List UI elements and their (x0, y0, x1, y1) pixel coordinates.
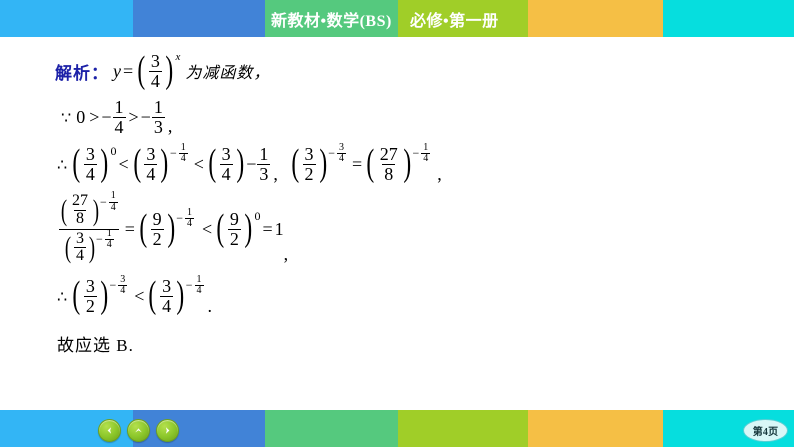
exponent: − 1 4 (412, 143, 431, 165)
numerator: 1 (152, 98, 165, 117)
header-block-cyan (663, 0, 794, 37)
numerator: 1 (179, 143, 188, 153)
next-slide-button[interactable] (156, 419, 179, 442)
left-paren: ( (291, 150, 299, 177)
exponent-fraction: 3 4 (337, 143, 346, 165)
denominator: 4 (160, 296, 173, 316)
right-paren: ) (236, 150, 244, 177)
therefore-symbol: ∴ (57, 155, 70, 174)
answer-text: 故应选 B. (57, 331, 134, 356)
numerator: 3 (160, 277, 173, 296)
fraction: 3 2 (303, 145, 316, 183)
exponent-fraction: 1 4 (105, 229, 114, 251)
complex-fraction: ( 27 8 ) − 1 4 (55, 193, 123, 265)
fraction: 3 4 (84, 145, 97, 183)
right-paren: ) (165, 57, 173, 84)
right-paren: ) (319, 150, 327, 177)
therefore-symbol: ∴ (57, 287, 70, 306)
greater-than-1: > (87, 107, 101, 128)
value-zero: 0 (74, 107, 87, 128)
term-3-2-pow-neg-3-4: ( 3 2 ) − 3 4 (289, 145, 347, 183)
denominator: 4 (84, 164, 97, 184)
numerator: 3 (303, 145, 316, 164)
denominator: 2 (84, 296, 97, 316)
header-block-lime: 必修•第一册 (398, 0, 528, 37)
minus-sign-2: − (141, 107, 151, 128)
exponent: − 1 4 (186, 275, 205, 297)
fraction-3-4: 3 4 (149, 52, 162, 90)
exponent-fraction: 1 4 (421, 143, 430, 165)
term-27-8-pow-neg-1-4: ( 27 8 ) − 1 4 (364, 145, 431, 183)
exponent-fraction: 1 4 (109, 191, 118, 213)
denominator: 4 (74, 247, 86, 265)
exponent: − 1 4 (96, 229, 115, 251)
exponent-fraction: 1 4 (185, 208, 194, 230)
exponent-sign: − (100, 195, 108, 210)
term-9-2-pow-0: ( 9 2 ) 0 (214, 210, 260, 248)
right-paren: ) (176, 282, 184, 309)
numerator: 1 (185, 208, 194, 218)
fraction: 3 4 (144, 145, 157, 183)
exponent-fraction: 1 4 (195, 275, 204, 297)
left-paren: ( (367, 150, 375, 177)
equals-sign-2: = (261, 219, 275, 240)
term-3-4-pow-neg-1-4: ( 3 4 ) − 1 4 (131, 145, 189, 183)
exponent: − 1 4 (100, 191, 119, 213)
exponent: − 1 4 (176, 208, 195, 230)
complex-numerator: ( 27 8 ) − 1 4 (55, 193, 123, 228)
header-block-green: 新教材•数学(BS) (265, 0, 398, 37)
right-paren: ) (89, 237, 95, 259)
denominator: 4 (118, 285, 127, 296)
right-paren: ) (167, 215, 175, 242)
left-paren: ( (149, 282, 157, 309)
comma-1: , (271, 164, 280, 185)
exponent-sign: − (110, 278, 118, 293)
exponent-sign: − (176, 211, 184, 226)
term-3-4-pow-0: ( 3 4 ) 0 (70, 145, 116, 183)
footer-block-orange (528, 410, 663, 447)
term-3-4-pow-neg-1-4: ( 3 4 ) − 1 4 (146, 277, 204, 315)
solution-line-5: ∴ ( 3 2 ) − 3 4 < ( (57, 275, 755, 317)
exponent-fraction: 3 4 (118, 275, 127, 297)
denominator: 4 (220, 164, 233, 184)
fraction: 27 8 (70, 193, 90, 227)
denominator: 4 (179, 153, 188, 164)
numerator: 3 (74, 231, 86, 248)
left-paren: ( (217, 215, 225, 242)
less-than-1: < (117, 154, 131, 175)
numerator: 9 (151, 210, 164, 229)
footer-block-lime (398, 410, 528, 447)
greater-than-2: > (127, 107, 141, 128)
denominator: 3 (257, 164, 270, 184)
right-paren: ) (161, 150, 169, 177)
chevron-right-icon (163, 426, 172, 435)
term-9-2-pow-neg-1-4: ( 9 2 ) − 1 4 (137, 210, 195, 248)
fraction-1-4: 1 4 (113, 98, 126, 136)
numerator: 3 (220, 145, 233, 164)
term-3-4-pow-neg-1-4: ( 3 4 ) − 1 4 (63, 231, 115, 265)
numerator: 3 (84, 277, 97, 296)
exponent-sign: − (186, 278, 194, 293)
numerator: 9 (228, 210, 241, 229)
solution-line-6: 故应选 B. (57, 329, 755, 357)
home-slide-button[interactable] (127, 419, 150, 442)
equals-sign: = (121, 61, 135, 82)
numerator: 3 (118, 275, 127, 285)
denominator: 4 (185, 218, 194, 229)
fraction-1-3: 1 3 (152, 98, 165, 136)
numerator: 1 (195, 275, 204, 285)
because-symbol: ∵ (61, 108, 74, 127)
denominator: 2 (151, 229, 164, 249)
fraction: 27 8 (378, 145, 400, 183)
term-27-8-pow-neg-1-4: ( 27 8 ) − 1 4 (59, 193, 119, 227)
denominator: 8 (74, 210, 86, 228)
denominator: 2 (228, 229, 241, 249)
numerator: 1 (109, 191, 118, 201)
term-3-4-pow-neg-1-3: ( 3 4 ) − 1 3 (206, 145, 271, 183)
exponent-sign: − (412, 146, 420, 161)
exponent: − 3 4 (328, 143, 347, 165)
denominator: 4 (421, 153, 430, 164)
numerator: 27 (378, 145, 400, 164)
denominator: 4 (105, 239, 114, 250)
denominator: 2 (303, 164, 316, 184)
header-block-orange (528, 0, 663, 37)
left-paren: ( (73, 282, 81, 309)
power-base-3-over-4: ( 3 4 ) x (135, 52, 180, 90)
right-paren: ) (403, 150, 411, 177)
exponent-sign: − (328, 146, 336, 161)
fraction: 9 2 (228, 210, 241, 248)
exponent: − 1 4 (170, 143, 189, 165)
less-than: < (132, 286, 146, 307)
numerator: 1 (113, 98, 126, 117)
right-paren: ) (93, 200, 99, 222)
exponent-fraction: 1 4 (179, 143, 188, 165)
complex-denominator: ( 3 4 ) − 1 4 (59, 229, 119, 265)
denominator: 4 (109, 202, 118, 213)
header-block-lightblue (0, 0, 133, 37)
comma: , (284, 244, 289, 265)
fraction: 3 2 (84, 277, 97, 315)
period: . (205, 296, 213, 317)
slide-navigation (98, 419, 179, 442)
chevron-up-icon (134, 426, 143, 435)
value-one: 1 (275, 219, 284, 240)
right-paren: ) (100, 150, 108, 177)
less-than-2: < (192, 154, 206, 175)
solution-line-1: 解析： y = ( 3 4 ) x 为减函数， (55, 51, 755, 91)
exponent: − 3 4 (110, 275, 129, 297)
numerator: 3 (144, 145, 157, 164)
page-number-badge: 第4页 (743, 419, 788, 442)
exponent-sign: − (96, 232, 104, 247)
solution-line-2: ∵ 0 > − 1 4 > − 1 3 , (61, 97, 755, 137)
exponent-sign: − (246, 154, 256, 175)
fraction: 3 4 (74, 231, 86, 265)
numerator: 1 (257, 145, 270, 164)
minus-sign-1: − (101, 107, 111, 128)
left-paren: ( (138, 57, 146, 84)
left-paren: ( (73, 150, 81, 177)
denominator: 8 (382, 164, 395, 184)
equals-sign: = (350, 154, 364, 175)
numerator: 3 (84, 145, 97, 164)
analysis-label: 解析： (55, 59, 109, 84)
numerator: 3 (337, 143, 346, 153)
numerator: 1 (105, 229, 114, 239)
chevron-left-icon (105, 426, 114, 435)
decreasing-function-text: 为减函数， (185, 59, 270, 83)
left-paren: ( (133, 150, 141, 177)
exponent-x: x (175, 51, 180, 63)
variable-y: y (113, 61, 121, 82)
equals-sign-1: = (123, 219, 137, 240)
denominator: 4 (149, 71, 162, 91)
left-paren: ( (65, 237, 71, 259)
right-paren: ) (100, 282, 108, 309)
left-paren: ( (61, 200, 67, 222)
exponent-fraction: 1 3 (257, 145, 270, 183)
book-title: 必修•第一册 (410, 7, 499, 31)
comma-2: , (435, 164, 444, 185)
right-paren: ) (244, 215, 252, 242)
exponent-sign: − (170, 146, 178, 161)
denominator: 4 (195, 285, 204, 296)
fraction: 9 2 (151, 210, 164, 248)
prev-slide-button[interactable] (98, 419, 121, 442)
solution-line-3: ∴ ( 3 4 ) 0 < ( 3 4 ) − (57, 143, 755, 185)
term-3-2-pow-neg-3-4: ( 3 2 ) − 3 4 (70, 277, 128, 315)
numerator: 27 (70, 193, 90, 210)
comma: , (166, 116, 175, 137)
solution-content: 解析： y = ( 3 4 ) x 为减函数， ∵ 0 > − 1 4 (55, 47, 755, 357)
numerator: 3 (149, 52, 162, 71)
page-number-label: 第4页 (753, 423, 779, 438)
denominator: 3 (152, 117, 165, 137)
denominator: 4 (113, 117, 126, 137)
slide-body: 解析： y = ( 3 4 ) x 为减函数， ∵ 0 > − 1 4 (0, 37, 794, 410)
numerator: 1 (421, 143, 430, 153)
fraction: 3 4 (220, 145, 233, 183)
denominator: 4 (337, 153, 346, 164)
subject-title: 新教材•数学(BS) (271, 7, 392, 31)
left-paren: ( (208, 150, 216, 177)
less-than: < (200, 219, 214, 240)
denominator: 4 (144, 164, 157, 184)
header-bar: 新教材•数学(BS) 必修•第一册 (0, 0, 794, 37)
left-paren: ( (139, 215, 147, 242)
solution-line-4: ( 27 8 ) − 1 4 (55, 193, 755, 265)
footer-block-green (265, 410, 398, 447)
header-block-blue (133, 0, 265, 37)
fraction: 3 4 (160, 277, 173, 315)
